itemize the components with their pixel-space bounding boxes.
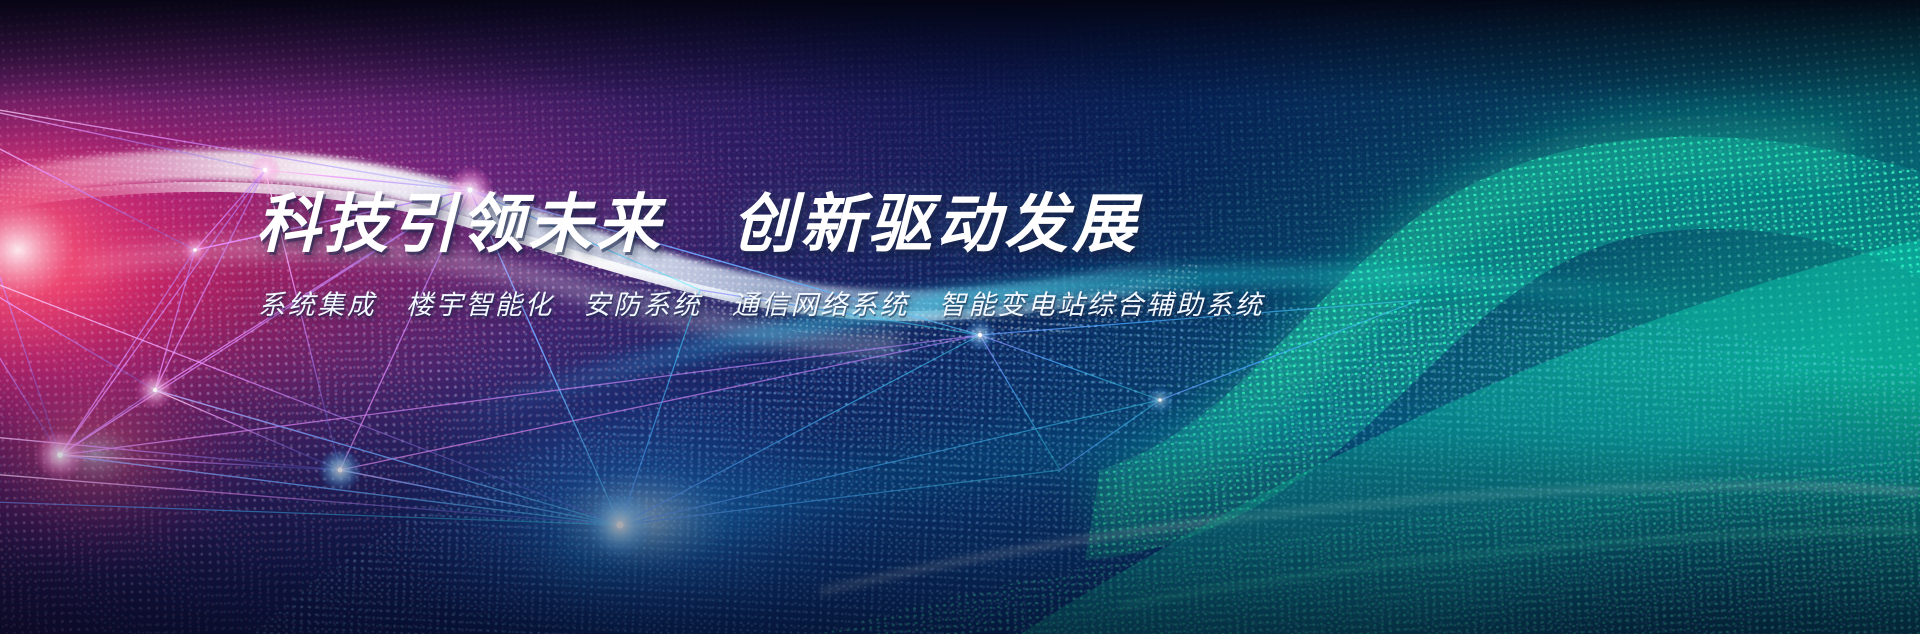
banner-subtitle: 系统集成 楼宇智能化 安防系统 通信网络系统 智能变电站综合辅助系统 xyxy=(258,288,1264,322)
banner-headline: 科技引领未来 创新驱动发展 xyxy=(256,186,1140,262)
banner-text-block: 科技引领未来 创新驱动发展 系统集成 楼宇智能化 安防系统 通信网络系统 智能变… xyxy=(0,0,1920,634)
hero-banner: 科技引领未来 创新驱动发展 系统集成 楼宇智能化 安防系统 通信网络系统 智能变… xyxy=(0,0,1920,634)
